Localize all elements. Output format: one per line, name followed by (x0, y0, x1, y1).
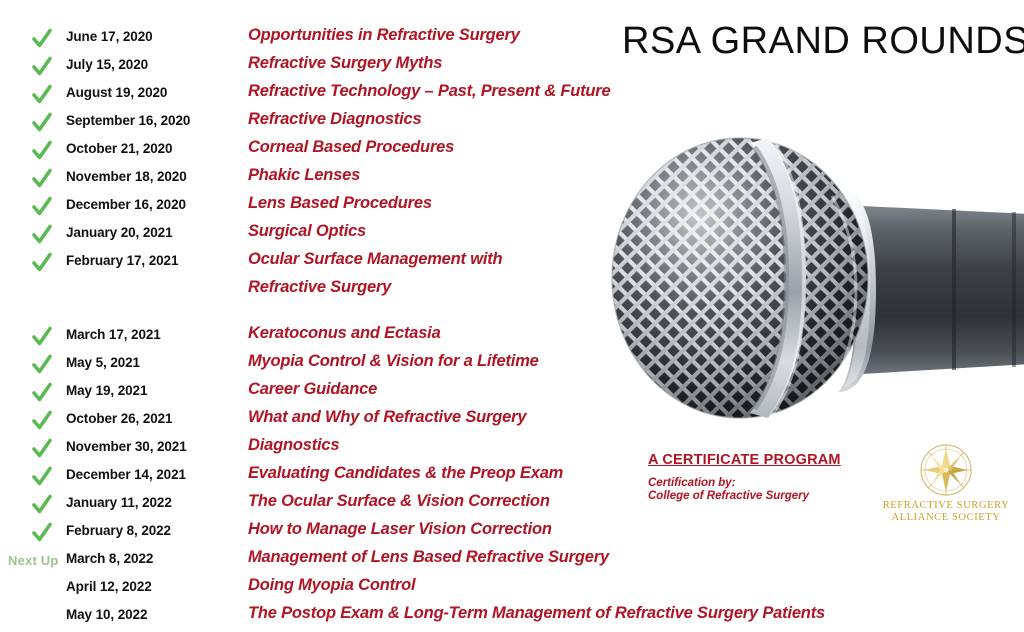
session-date: November 30, 2021 (66, 439, 187, 454)
session-topic: Refractive Diagnostics (248, 110, 422, 129)
next-up-badge: Next Up (8, 553, 59, 568)
schedule-row: May 19, 2021Career Guidance (0, 380, 900, 408)
session-date: January 11, 2022 (66, 495, 172, 510)
check-icon (32, 224, 52, 246)
check-icon (32, 252, 52, 274)
session-topic: Ocular Surface Management with (248, 250, 502, 269)
schedule-row: October 26, 2021What and Why of Refracti… (0, 408, 900, 436)
schedule-row: February 17, 2021Ocular Surface Manageme… (0, 250, 900, 278)
presentation-slide: RSA GRAND ROUNDS June 17, 2020Opportunit… (0, 0, 1024, 576)
session-topic: Career Guidance (248, 380, 377, 399)
check-icon (32, 140, 52, 162)
session-date: February 17, 2021 (66, 253, 178, 268)
check-icon (32, 494, 52, 516)
session-topic: Refractive Surgery Myths (248, 54, 442, 73)
session-topic: Opportunities in Refractive Surgery (248, 26, 520, 45)
check-icon (32, 382, 52, 404)
certification-by-label: Certification by: (648, 477, 878, 489)
session-date: May 19, 2021 (66, 383, 147, 398)
schedule-row: January 20, 2021Surgical Optics (0, 222, 900, 250)
session-date: November 18, 2020 (66, 169, 187, 184)
session-topic: The Postop Exam & Long-Term Management o… (248, 604, 825, 623)
session-topic: Refractive Technology – Past, Present & … (248, 82, 610, 101)
session-topic: Phakic Lenses (248, 166, 360, 185)
schedule-row: September 16, 2020Refractive Diagnostics (0, 110, 900, 138)
session-topic: Keratoconus and Ectasia (248, 324, 441, 343)
session-date: September 16, 2020 (66, 113, 190, 128)
schedule-row: March 17, 2021Keratoconus and Ectasia (0, 324, 900, 352)
rsa-logo: REFRACTIVE SURGERY ALLIANCE SOCIETY (876, 442, 1016, 524)
schedule-row: Refractive Surgery (0, 278, 900, 306)
check-icon (32, 196, 52, 218)
session-topic: Refractive Surgery (248, 278, 391, 297)
session-topic: Corneal Based Procedures (248, 138, 454, 157)
session-date: May 5, 2021 (66, 355, 140, 370)
session-date: December 16, 2020 (66, 197, 186, 212)
check-icon (32, 56, 52, 78)
certificate-block: A CERTIFICATE PROGRAM Certification by: … (648, 452, 878, 502)
session-topic: The Ocular Surface & Vision Correction (248, 492, 550, 511)
schedule-row: December 16, 2020Lens Based Procedures (0, 194, 900, 222)
check-icon (32, 168, 52, 190)
session-date: October 26, 2021 (66, 411, 172, 426)
session-date: May 10, 2022 (66, 607, 147, 622)
check-icon (32, 438, 52, 460)
session-date: December 14, 2021 (66, 467, 186, 482)
check-icon (32, 28, 52, 50)
schedule-row: August 19, 2020Refractive Technology – P… (0, 82, 900, 110)
session-topic: Diagnostics (248, 436, 339, 455)
session-date: August 19, 2020 (66, 85, 167, 100)
check-icon (32, 326, 52, 348)
session-date: March 8, 2022 (66, 551, 153, 566)
schedule-row: February 8, 2022How to Manage Laser Visi… (0, 520, 900, 548)
session-date: February 8, 2022 (66, 523, 171, 538)
session-date: October 21, 2020 (66, 141, 172, 156)
schedule-row: June 17, 2020Opportunities in Refractive… (0, 26, 900, 54)
schedule-row: November 18, 2020Phakic Lenses (0, 166, 900, 194)
certificate-heading: A CERTIFICATE PROGRAM (648, 452, 878, 468)
schedule-row: May 10, 2022The Postop Exam & Long-Term … (0, 604, 900, 632)
session-topic: Evaluating Candidates & the Preop Exam (248, 464, 563, 483)
session-date: March 17, 2021 (66, 327, 161, 342)
logo-text-line2: ALLIANCE SOCIETY (876, 512, 1016, 524)
session-topic: How to Manage Laser Vision Correction (248, 520, 552, 539)
logo-text-line1: REFRACTIVE SURGERY (876, 500, 1016, 512)
session-date: January 20, 2021 (66, 225, 172, 240)
session-topic: Surgical Optics (248, 222, 366, 241)
session-topic: What and Why of Refractive Surgery (248, 408, 526, 427)
schedule-row: July 15, 2020Refractive Surgery Myths (0, 54, 900, 82)
schedule-row: May 5, 2021Myopia Control & Vision for a… (0, 352, 900, 380)
schedule-row: October 21, 2020Corneal Based Procedures (0, 138, 900, 166)
schedule-list: June 17, 2020Opportunities in Refractive… (0, 26, 900, 632)
session-date: July 15, 2020 (66, 57, 148, 72)
session-topic: Myopia Control & Vision for a Lifetime (248, 352, 539, 371)
session-topic: Lens Based Procedures (248, 194, 432, 213)
session-date: June 17, 2020 (66, 29, 153, 44)
session-date: April 12, 2022 (66, 579, 152, 594)
schedule-gap (0, 306, 900, 324)
certifying-organization: College of Refractive Surgery (648, 490, 878, 502)
session-topic: Doing Myopia Control (248, 576, 415, 595)
check-icon (32, 466, 52, 488)
check-icon (32, 84, 52, 106)
schedule-row: Next UpMarch 8, 2022Management of Lens B… (0, 548, 900, 576)
schedule-row: April 12, 2022Doing Myopia Control (0, 576, 900, 604)
check-icon (32, 354, 52, 376)
compass-rose-icon (915, 442, 977, 500)
session-topic: Management of Lens Based Refractive Surg… (248, 548, 609, 567)
check-icon (32, 112, 52, 134)
check-icon (32, 410, 52, 432)
check-icon (32, 522, 52, 544)
